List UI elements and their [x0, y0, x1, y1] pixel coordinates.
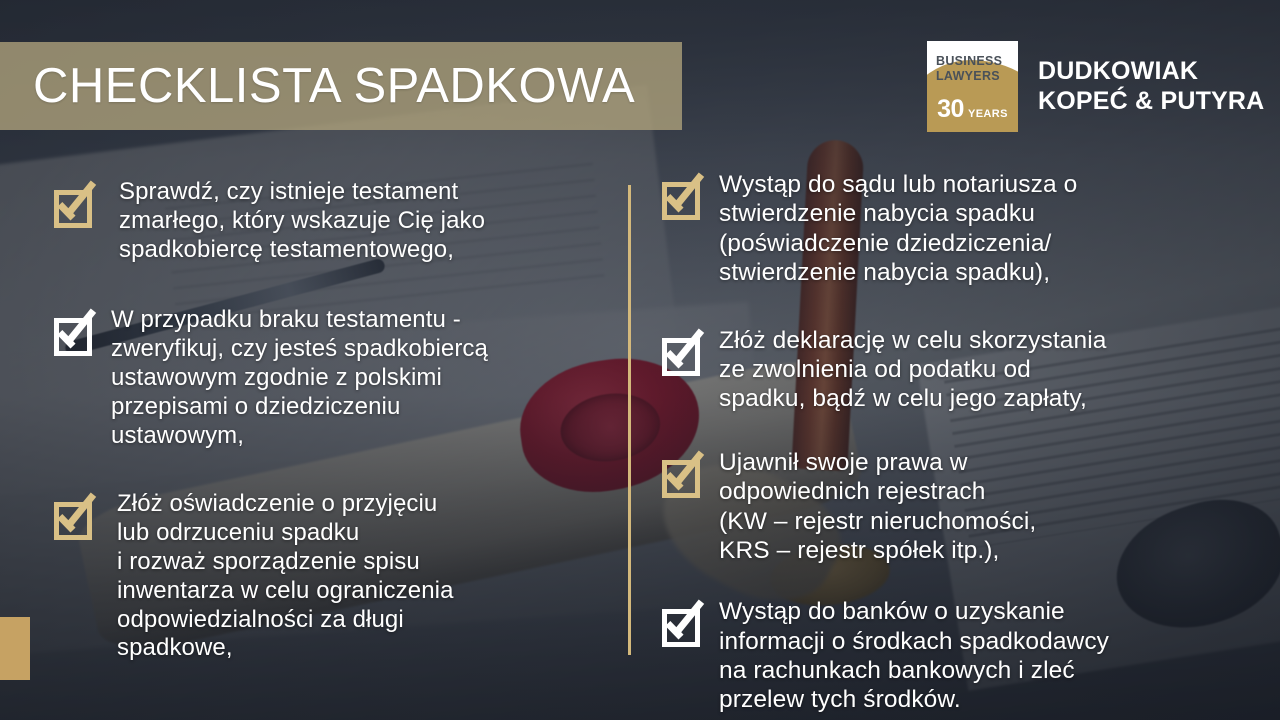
checkbox-checked-icon — [660, 452, 706, 498]
logo-years-word: YEARS — [968, 108, 1008, 120]
checklist-item: Złóż deklarację w celu skorzystania ze z… — [660, 324, 1260, 414]
title-banner: CHECKLISTA SPADKOWA — [0, 42, 682, 130]
checklist-item: Wystąp do sądu lub notariusza o stwierdz… — [660, 168, 1260, 288]
checkbox-checked-icon — [660, 330, 706, 376]
checklist-item-text: W przypadku braku testamentu - zweryfiku… — [111, 304, 488, 450]
checklist-item: W przypadku braku testamentu - zweryfiku… — [52, 304, 612, 450]
firm-name: DUDKOWIAK KOPEĆ & PUTYRA — [1038, 57, 1264, 116]
checklist-item: Sprawdź, czy istnieje testament zmarłego… — [52, 176, 612, 264]
checklist-right-column: Wystąp do sądu lub notariusza o stwierdz… — [660, 168, 1260, 715]
checkbox-checked-icon — [660, 601, 706, 647]
logo-line-lawyers: LAWYERS — [936, 69, 1012, 84]
checklist-item: Ujawnił swoje prawa w odpowiednich rejes… — [660, 446, 1260, 566]
checklist-item-text: Złóż deklarację w celu skorzystania ze z… — [719, 324, 1107, 414]
gold-accent-tab — [0, 617, 30, 680]
checkbox-checked-icon — [52, 494, 98, 540]
checkbox-checked-icon — [52, 310, 98, 356]
checklist-item: Wystąp do banków o uzyskanie informacji … — [660, 595, 1260, 715]
checklist-item-text: Wystąp do banków o uzyskanie informacji … — [719, 595, 1109, 715]
checkbox-checked-icon — [52, 182, 98, 228]
checklist-item: Złóż oświadczenie o przyjęciu lub odrzuc… — [52, 488, 612, 663]
checklist-item-text: Złóż oświadczenie o przyjęciu lub odrzuc… — [117, 488, 454, 663]
logo-business-lawyers-text: BUSINESS LAWYERS — [936, 54, 1012, 85]
firm-name-line2: KOPEĆ & PUTYRA — [1038, 87, 1264, 117]
logo-years-number: 30 — [937, 95, 964, 124]
checklist-item-text: Ujawnił swoje prawa w odpowiednich rejes… — [719, 446, 1036, 566]
brand-lockup: BUSINESS LAWYERS 30 YEARS DUDKOWIAK KOPE… — [927, 41, 1264, 132]
column-divider — [628, 185, 631, 655]
business-lawyers-logo-icon: BUSINESS LAWYERS 30 YEARS — [927, 41, 1018, 132]
checkbox-checked-icon — [660, 174, 706, 220]
page-title: CHECKLISTA SPADKOWA — [0, 58, 635, 114]
checklist-left-column: Sprawdź, czy istnieje testament zmarłego… — [52, 176, 612, 663]
checklist-item-text: Sprawdź, czy istnieje testament zmarłego… — [119, 176, 485, 264]
logo-anniversary: 30 YEARS — [927, 95, 1018, 124]
checklist-item-text: Wystąp do sądu lub notariusza o stwierdz… — [719, 168, 1077, 288]
presentation-slide: CHECKLISTA SPADKOWA BUSINESS LAWYERS 30 … — [0, 0, 1280, 720]
firm-name-line1: DUDKOWIAK — [1038, 57, 1264, 87]
logo-line-business: BUSINESS — [936, 54, 1012, 69]
